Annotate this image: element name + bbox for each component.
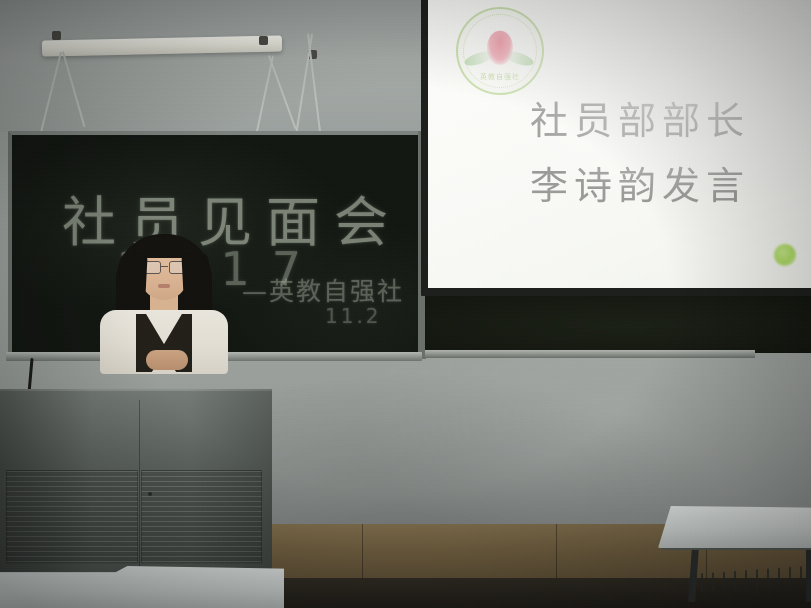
blackboard-lower-right [425, 295, 811, 353]
blackboard-club-line: —英教自强社 [242, 272, 404, 308]
wainscot-seam [362, 524, 363, 582]
green-dot-decoration [774, 244, 796, 266]
presenter-hands [146, 350, 188, 370]
classroom-photo: 社员见面会 2017 —英教自强社 11.2 英教自强社 社员部部长 李诗韵发言 [0, 0, 811, 608]
lectern-shading [0, 389, 272, 575]
right-desk [658, 506, 811, 548]
slide-line-2: 李诗韵发言 [530, 155, 750, 210]
glasses-icon [143, 261, 185, 272]
slide-line-1: 社员部部长 [530, 90, 750, 145]
lamp-bracket [259, 36, 268, 45]
lamp-bracket [52, 31, 61, 40]
wainscot-seam [556, 524, 557, 582]
presenter-mouth [158, 284, 170, 288]
blackboard-date-line: 11.2 [325, 304, 382, 328]
front-desk [0, 566, 284, 608]
club-logo-icon: 英教自强社 [456, 7, 544, 95]
chalk-tray-right [425, 350, 755, 358]
logo-caption: 英教自强社 [480, 72, 520, 82]
presenter [88, 228, 240, 373]
glasses-bridge [160, 266, 168, 267]
